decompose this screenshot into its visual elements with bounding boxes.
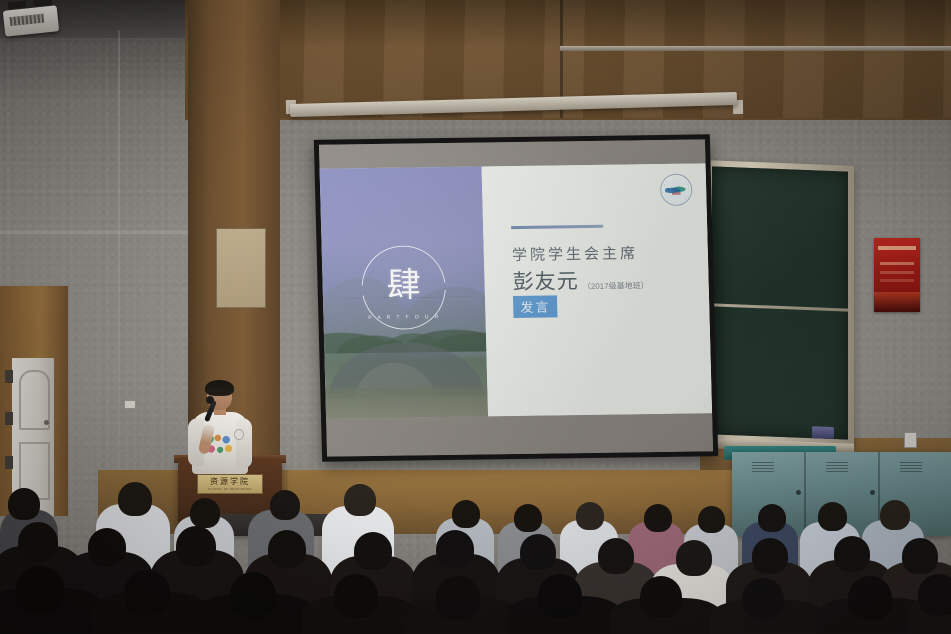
wall-trim-line	[0, 230, 195, 234]
audience-head	[452, 500, 480, 528]
audience-head	[698, 506, 725, 533]
audience-head	[576, 502, 604, 530]
audience-head	[88, 528, 126, 566]
action-tag-badge: 发言	[513, 295, 558, 318]
audience-head	[918, 574, 951, 616]
section-subtitle: P A R T F O U R	[362, 314, 446, 321]
audience-head	[16, 566, 64, 614]
audience-head	[230, 572, 276, 618]
poster-text-line-3	[880, 279, 914, 282]
slide-background-photo: 肆 P A R T F O U R	[320, 166, 489, 418]
door-knob[interactable]	[44, 420, 49, 425]
wall-rail	[560, 46, 951, 51]
section-badge: 肆 P A R T F O U R	[361, 245, 447, 330]
emblem-wave-mark	[665, 186, 687, 195]
slide-text-panel: 学院学生会主席 彭友元 （2017级基地班） 发言	[482, 163, 712, 416]
audience-head	[758, 504, 786, 532]
presentation-slide: 肆 P A R T F O U R 学院学生会主席 彭友元 （2017级基地班）	[320, 163, 713, 418]
light-switch[interactable]	[124, 400, 136, 409]
auditorium-photo: 肆 P A R T F O U R 学院学生会主席 彭友元 （2017级基地班）	[0, 0, 951, 634]
chalkboard-surface	[712, 166, 848, 439]
poster-illustration	[874, 292, 920, 312]
poster-text-line-1	[880, 262, 914, 265]
audience-head	[598, 538, 634, 574]
poster-header-band	[878, 246, 916, 250]
speaker-shoulder-right	[236, 418, 252, 468]
speaker-name: 彭友元	[512, 265, 579, 296]
audience-head	[268, 530, 306, 568]
screen-canvas: 肆 P A R T F O U R 学院学生会主席 彭友元 （2017级基地班）	[319, 139, 713, 456]
photo-foreground	[325, 386, 488, 418]
wall-socket[interactable]	[904, 432, 917, 448]
door-hinge-bottom	[5, 456, 13, 469]
audience-head	[514, 504, 542, 532]
audience-head	[902, 538, 938, 574]
poster-text-line-2	[880, 271, 914, 274]
wall-seam	[118, 30, 120, 490]
audience-head	[880, 500, 910, 530]
projection-letterbox-bottom	[326, 413, 713, 456]
audience-head	[640, 576, 682, 618]
audience-head	[538, 574, 582, 618]
column-inset-panel	[216, 228, 266, 308]
audience-head	[124, 570, 170, 616]
projection-screen: 肆 P A R T F O U R 学院学生会主席 彭友元 （2017级基地班）	[314, 134, 718, 461]
audience-head	[270, 490, 300, 520]
speaker-name-line: 彭友元 （2017级基地班）	[512, 264, 649, 296]
audience-head	[334, 574, 378, 618]
slide-accent-rule	[511, 225, 603, 229]
green-chalkboard	[706, 160, 854, 448]
audience-head	[344, 484, 376, 516]
door-hinge-top	[5, 370, 13, 383]
audience-head	[848, 576, 892, 620]
audience-head	[644, 504, 672, 532]
audience-head	[436, 576, 480, 620]
section-number: 肆	[361, 268, 446, 303]
audience-head	[18, 522, 58, 562]
audience-seating	[0, 470, 951, 634]
audience-head	[354, 532, 392, 570]
audience-head	[190, 498, 220, 528]
audience-head	[676, 540, 712, 576]
audience-head	[176, 526, 216, 566]
chalkboard-eraser[interactable]	[812, 426, 834, 439]
audience-head	[742, 578, 784, 620]
audience-head	[436, 530, 474, 568]
audience-head	[834, 536, 870, 572]
university-emblem-icon	[660, 174, 693, 206]
audience-head	[520, 534, 556, 570]
door-hinge-mid	[5, 412, 13, 425]
speaker-person	[188, 382, 252, 478]
red-wall-poster	[874, 238, 920, 312]
microphone-head	[206, 396, 214, 404]
audience-head	[818, 502, 847, 531]
speaker-class: （2017级基地班）	[583, 280, 649, 295]
audience-head	[118, 482, 152, 516]
audience-head	[752, 538, 788, 574]
audience-head	[8, 488, 40, 520]
speaker-chest-badge	[235, 430, 243, 439]
speaker-role: 学院学生会主席	[512, 242, 639, 265]
